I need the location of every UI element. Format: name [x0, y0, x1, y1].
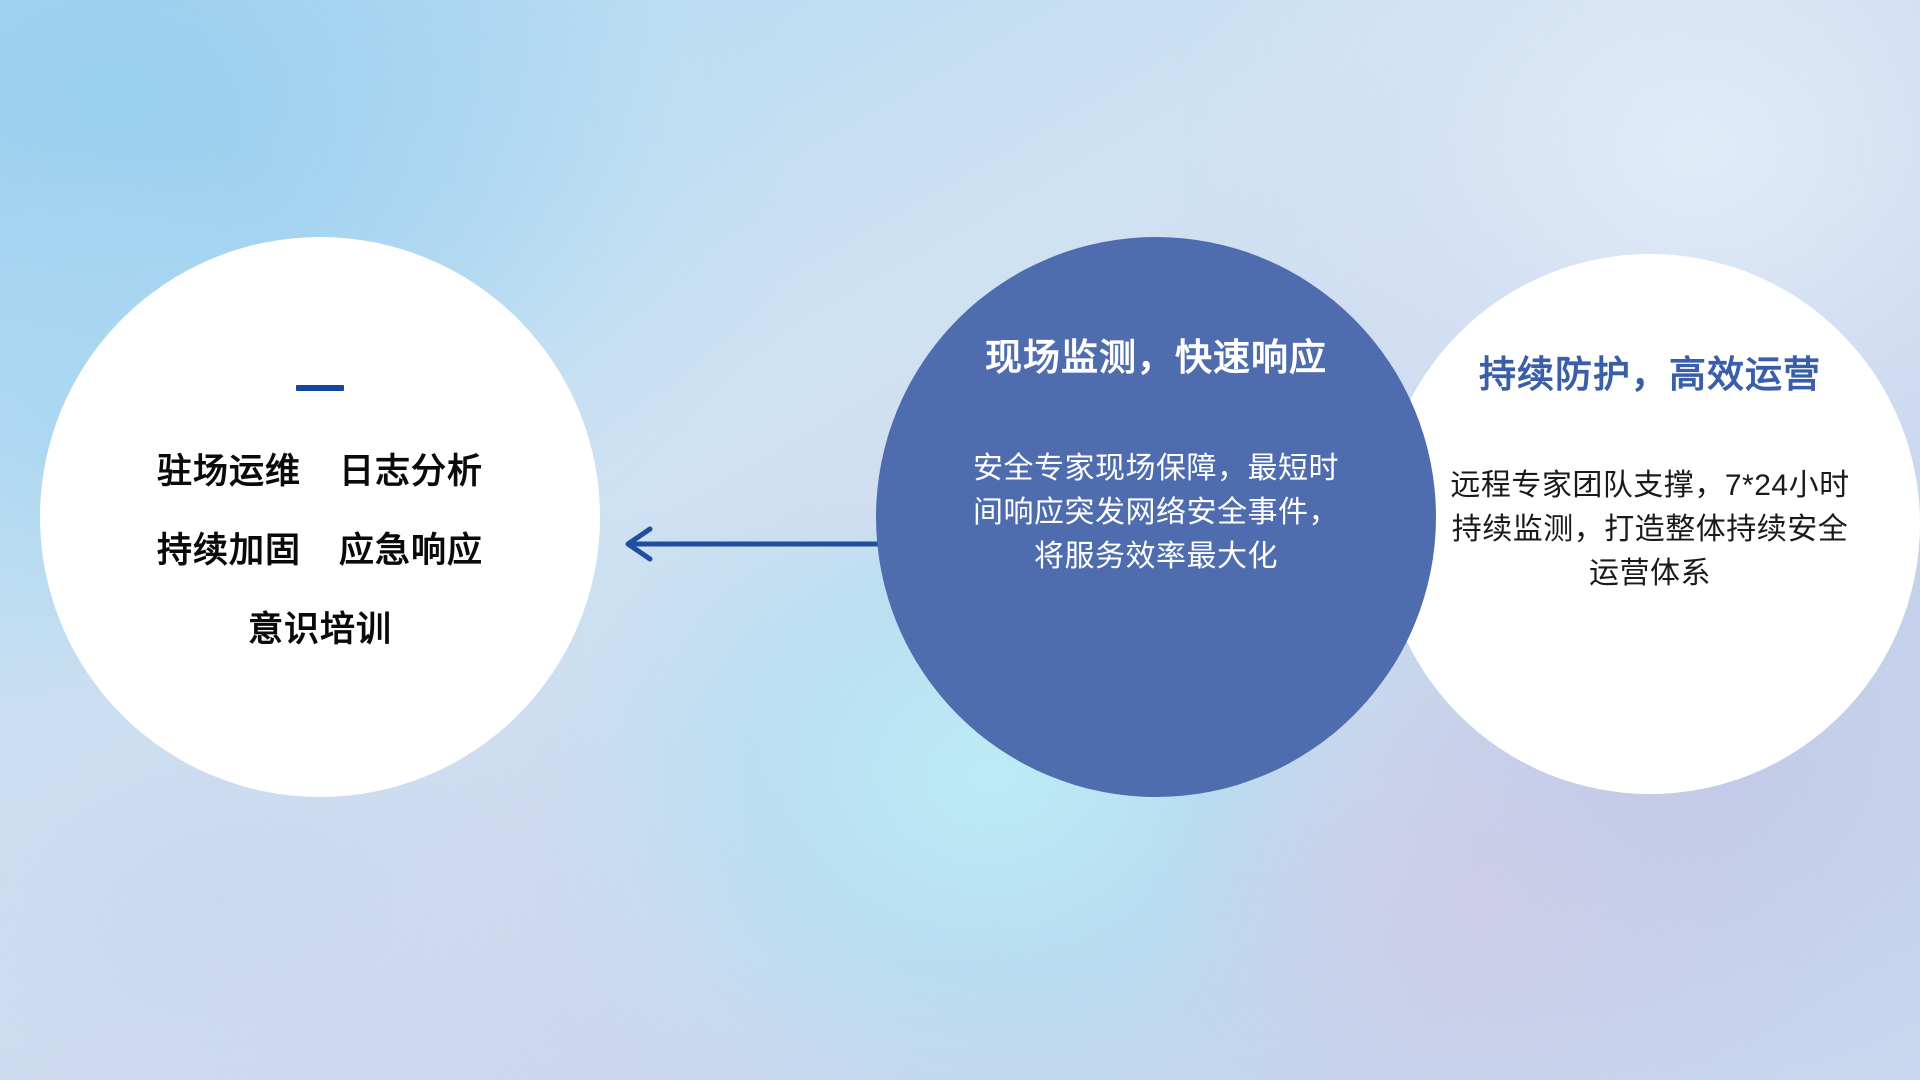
capability-row: 驻场运维 日志分析: [157, 443, 483, 494]
capability-row: 持续加固 应急响应: [157, 522, 483, 573]
slide-canvas: 驻场运维 日志分析 持续加固 应急响应 意识培训 持续防护，高效运营 远程专家团…: [0, 0, 1920, 1080]
capability-item: 驻场运维: [157, 443, 301, 494]
divider-dash-icon: [296, 385, 344, 391]
capability-row: 意识培训: [248, 601, 392, 652]
capability-list: 驻场运维 日志分析 持续加固 应急响应 意识培训: [157, 443, 483, 652]
onsite-monitoring-circle: 现场监测，快速响应 安全专家现场保障，最短时间响应突发网络安全事件，将服务效率最…: [876, 237, 1436, 797]
continuous-protection-circle: 持续防护，高效运营 远程专家团队支撑，7*24小时持续监测，打造整体持续安全运营…: [1380, 254, 1920, 794]
capability-item: 持续加固: [157, 522, 301, 573]
capability-circle: 驻场运维 日志分析 持续加固 应急响应 意识培训: [40, 237, 600, 797]
onsite-monitoring-title: 现场监测，快速响应: [985, 327, 1327, 381]
left-pointing-arrow-icon: [600, 520, 890, 568]
capability-item: 应急响应: [339, 522, 483, 573]
continuous-protection-title: 持续防护，高效运营: [1479, 344, 1821, 398]
capability-item: 日志分析: [339, 443, 483, 494]
capability-item: 意识培训: [248, 601, 392, 652]
continuous-protection-body: 远程专家团队支撑，7*24小时持续监测，打造整体持续安全运营体系: [1440, 464, 1860, 596]
onsite-monitoring-body: 安全专家现场保障，最短时间响应突发网络安全事件，将服务效率最大化: [971, 447, 1341, 579]
